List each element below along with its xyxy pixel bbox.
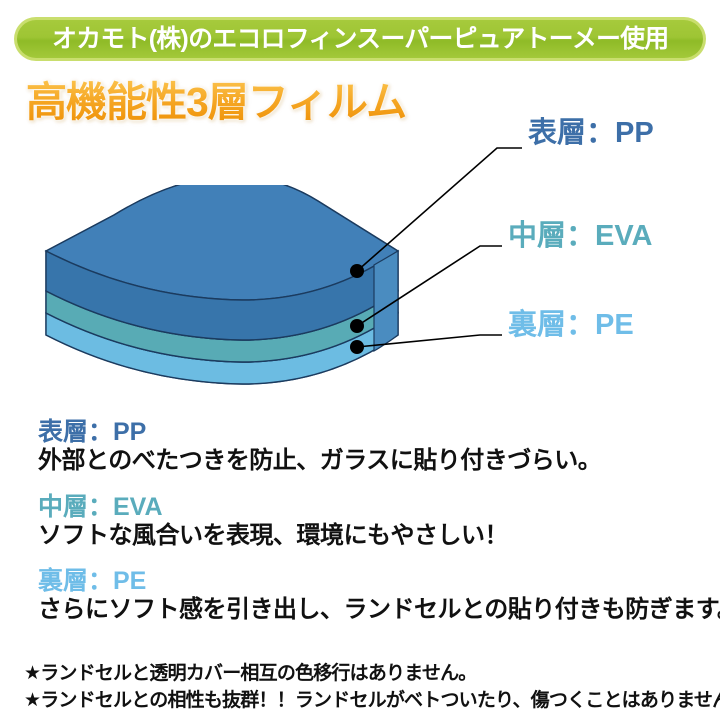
note-line: ★ランドセルとの相性も抜群！！ランドセルがベトついたり、傷つくことはありません。 (24, 688, 714, 715)
description-pe: 裏層：PE さらにソフト感を引き出し、ランドセルとの貼り付きも防ぎます。 (38, 567, 720, 625)
header-banner: オカモト(株)のエコロフィンスーパーピュアトーメー使用 (14, 17, 706, 61)
description-pe-heading: 裏層：PE (38, 567, 720, 595)
description-eva: 中層：EVA ソフトな風合いを表現、環境にもやさしい！ (38, 493, 508, 551)
marker-dot-pe (350, 340, 364, 354)
callout-label-pp: 表層：PP (528, 119, 654, 148)
banner-inner-pill: オカモト(株)のエコロフィンスーパーピュアトーメー使用 (17, 20, 703, 58)
note-line: ★ランドセルと透明カバー相互の色移行はありません。 (24, 661, 714, 688)
callout-label-eva: 中層：EVA (508, 222, 652, 251)
page-title: 高機能性3層フィルム (26, 80, 406, 125)
diagram-end-cap (374, 251, 398, 351)
marker-dot-pp (350, 264, 364, 278)
callout-label-pe: 裏層：PE (508, 311, 634, 340)
footer-notes: ★ランドセルと透明カバー相互の色移行はありません。 ★ランドセルとの相性も抜群！… (24, 661, 714, 715)
description-pp-body: 外部とのべたつきを防止、ガラスに貼り付きづらい。 (38, 447, 601, 476)
description-pp-heading: 表層：PP (38, 418, 601, 446)
marker-dot-eva (350, 319, 364, 333)
description-pp: 表層：PP 外部とのべたつきを防止、ガラスに貼り付きづらい。 (38, 418, 601, 476)
description-eva-body: ソフトな風合いを表現、環境にもやさしい！ (38, 522, 508, 551)
film-layers-diagram (18, 185, 458, 395)
description-eva-heading: 中層：EVA (38, 493, 508, 521)
description-pe-body: さらにソフト感を引き出し、ランドセルとの貼り付きも防ぎます。 (38, 596, 720, 625)
banner-text: オカモト(株)のエコロフィンスーパーピュアトーメー使用 (52, 27, 668, 52)
